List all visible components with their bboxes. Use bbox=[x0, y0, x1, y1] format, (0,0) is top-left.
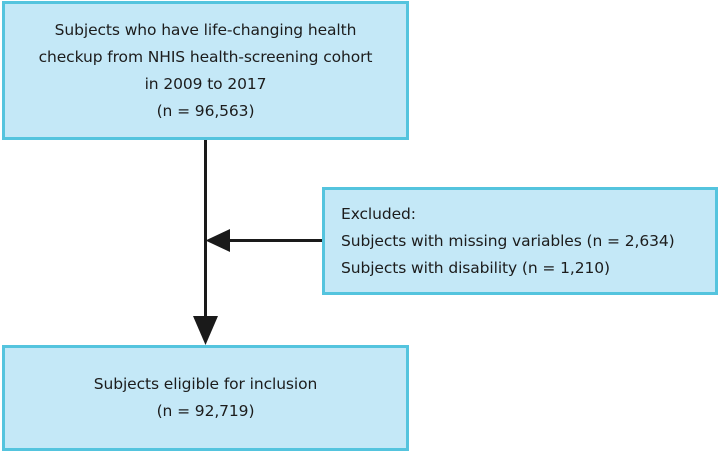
flow-box-eligible-count: (n = 92,719) bbox=[5, 398, 406, 425]
down-arrowhead-icon bbox=[193, 316, 218, 345]
flow-box-source-cohort-count: (n = 96,563) bbox=[5, 98, 406, 125]
flow-box-excluded-reason-disability: Subjects with disability (n = 1,210) bbox=[341, 255, 715, 282]
flow-box-source-cohort: Subjects who have life-changing health c… bbox=[2, 1, 409, 140]
flow-box-source-cohort-line-1: Subjects who have life-changing health bbox=[5, 17, 406, 44]
flow-box-excluded-heading: Excluded: bbox=[341, 201, 715, 228]
left-arrowhead-icon bbox=[206, 229, 231, 252]
flow-box-excluded: Excluded: Subjects with missing variable… bbox=[322, 187, 718, 295]
flow-box-source-cohort-line-3: in 2009 to 2017 bbox=[5, 71, 406, 98]
flowchart-canvas: Subjects who have life-changing health c… bbox=[0, 0, 721, 453]
flow-box-source-cohort-line-2: checkup from NHIS health-screening cohor… bbox=[5, 44, 406, 71]
flow-box-eligible: Subjects eligible for inclusion (n = 92,… bbox=[2, 345, 409, 451]
flow-box-excluded-reason-missing-variables: Subjects with missing variables (n = 2,6… bbox=[341, 228, 715, 255]
flow-box-eligible-label: Subjects eligible for inclusion bbox=[5, 371, 406, 398]
